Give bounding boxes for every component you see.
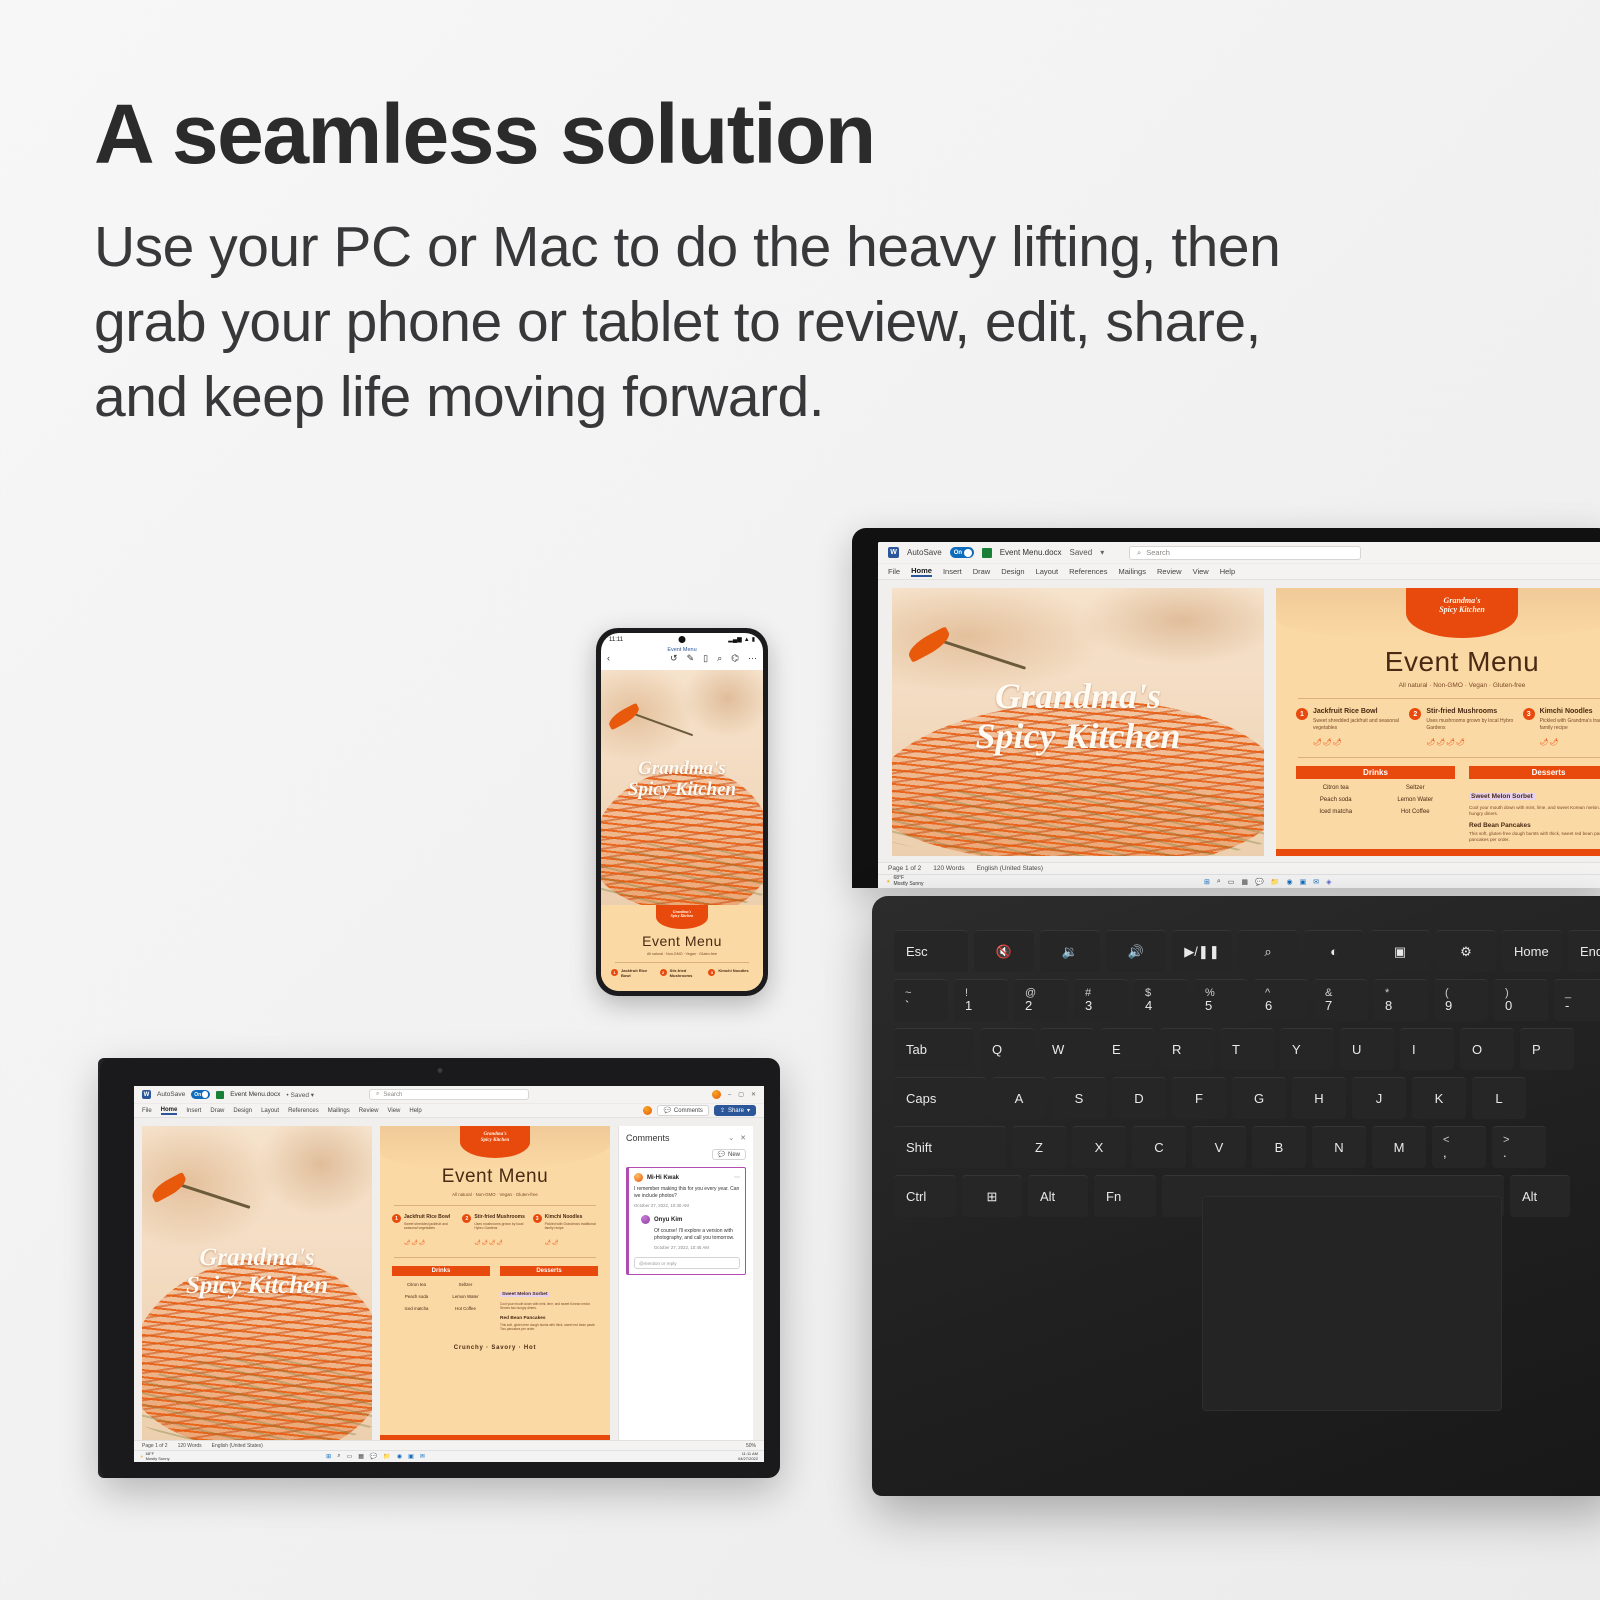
word-ribbon-tabs-tablet: File Home Insert Draw Design Layout Refe… [878,564,1600,580]
desserts-header: Desserts [500,1266,598,1276]
teams-icon[interactable]: ◈ [1326,878,1331,886]
phone-toolbar-icons: ↺ ✎ ▯ ⌕ ⌬ ⋯ [670,653,757,664]
word-title-bar: W AutoSave On Event Menu.docx Saved ▾ ⌕ … [878,542,1600,564]
comment-header: Mi-Hi Kwak ⋯ [634,1173,740,1182]
chat-icon[interactable]: 💬 [370,1453,377,1460]
key-e[interactable]: E [1100,1028,1154,1070]
dish-name: Kimchi Noodles [1540,708,1600,716]
menu-dish-item: 1 Jackfruit Rice Bowl [611,969,656,979]
document-save-status: • Saved ▾ [286,1091,314,1099]
new-comment-button[interactable]: 💬 New [712,1149,747,1160]
key-bottom-label: 9 [1445,999,1452,1014]
status-page-number[interactable]: Page 1 of 2 [888,865,921,872]
dessert-name: Red Bean Pancakes [1469,822,1600,829]
menu-drinks-column: Drinks Citron tea Peach soda Iced matcha [1296,766,1455,843]
phone-status-icons: ▂▄▆ ▲ ▮ [728,636,755,643]
key-j[interactable]: J [1352,1077,1406,1119]
key-i[interactable]: I [1400,1028,1454,1070]
status-word-count[interactable]: 120 Words [178,1443,202,1449]
key-bottom-label: 2 [1025,999,1032,1014]
store-icon[interactable]: ▣ [1300,878,1307,886]
key-o[interactable]: O [1460,1028,1514,1070]
search-placeholder: Search [1146,548,1170,557]
avatar[interactable] [712,1090,721,1099]
laptop-webcam [438,1068,443,1073]
menu-columns: Drinks Citron tea Peach soda Iced matcha [380,1266,610,1331]
tab-review[interactable]: Review [359,1108,379,1114]
dessert-name[interactable]: Sweet Melon Sorbet [500,1292,550,1297]
comment-author: Onyu Kim [654,1217,682,1223]
drink-item: Seltzer [1376,785,1456,791]
key-g[interactable]: G [1232,1077,1286,1119]
menu-divider [394,1205,596,1206]
menu-desserts-column: Desserts Sweet Melon Sorbet Cool your mo… [1469,766,1600,843]
start-icon[interactable]: ⊞ [326,1453,331,1460]
search-placeholder: Search [383,1092,402,1098]
cover-brand-line-2: Spicy Kitchen [142,1272,372,1300]
menu-dish-list: 1 Jackfruit Rice Bowl 2 Stir-fried Mushr… [601,969,763,979]
menu-brand-line-2: Spicy Kitchen [1406,606,1518,615]
edge-icon[interactable]: ◉ [397,1453,402,1460]
key-6[interactable]: ^ 6 [1254,979,1308,1021]
dish-description: Sweet shredded jackfruit and seasonal ve… [404,1222,457,1231]
share-button[interactable]: ⇪ Share ▾ [714,1105,756,1116]
tab-mailings[interactable]: Mailings [328,1108,350,1114]
key-bottom-label: 0 [1505,999,1512,1014]
key-1[interactable]: ! 1 [954,979,1008,1021]
phone-page-menu[interactable]: Grandma's Spicy Kitchen Event Menu All n… [601,905,763,991]
menu-drinks-column: Drinks Citron tea Peach soda Iced matcha [392,1266,490,1331]
desserts-header: Desserts [1469,766,1600,779]
ribbon-right-actions: 💬 Comments ⇪ Share ▾ [643,1105,756,1116]
key-mute-icon[interactable]: 🔇 [974,930,1034,972]
new-comment-label: New [728,1152,740,1158]
key-q[interactable]: Q [980,1028,1034,1070]
menu-tags: All natural · Non-GMO · Vegan · Gluten-f… [601,952,763,956]
search-input[interactable]: ⌕ Search [1129,546,1361,560]
tab-file[interactable]: File [888,567,900,576]
windows-taskbar-laptop: ☀ 68°F Mostly Sunny ⊞ ⌕ ▭ ▦ 💬 📁 ◉ [134,1450,764,1462]
key-w[interactable]: W [1040,1028,1094,1070]
tab-view[interactable]: View [1193,567,1209,576]
save-status-icon[interactable] [216,1091,224,1099]
dish-number-badge: 3 [708,969,715,976]
cover-brand-line-1: Grandma's [601,758,763,779]
key-bottom-label: 5 [1205,999,1212,1014]
mobile-view-icon[interactable]: ▯ [703,653,708,664]
swirl-art-green [892,781,1264,856]
collaborator-avatar[interactable] [643,1106,652,1115]
tab-layout[interactable]: Layout [1036,567,1059,576]
document-page-menu[interactable]: Grandma's Spicy Kitchen Event Menu All n… [380,1126,610,1440]
search-icon[interactable]: ⌕ [1217,878,1221,886]
cover-brand-line-1: Grandma's [142,1244,372,1272]
dish-name: Kimchi Noodles [718,969,748,979]
swirl-art-green [142,1353,372,1440]
mail-icon[interactable]: ✉ [420,1453,425,1460]
menu-brand-badge: Grandma's Spicy Kitchen [460,1126,530,1158]
word-ribbon-tabs-laptop: File Home Insert Draw Design Layout Refe… [134,1104,764,1118]
dessert-description: Cool your mouth down with mint, lime, an… [500,1302,598,1310]
tab-layout[interactable]: Layout [261,1108,279,1114]
search-input[interactable]: ⌕ Search [369,1089,529,1100]
dish-name: Jackfruit Rice Bowl [404,1214,457,1220]
dish-number-badge: 2 [462,1214,471,1223]
autosave-toggle[interactable]: On [191,1090,210,1099]
cover-brand-line-2: Spicy Kitchen [601,779,763,800]
menu-brand-line-2: Spicy Kitchen [656,914,708,918]
keyboard-row-shift: Shift Z X C V B N M < , > . [894,1126,1600,1168]
tab-draw[interactable]: Draw [210,1108,224,1114]
battery-icon: ▮ [752,636,755,643]
key-k[interactable]: K [1412,1077,1466,1119]
document-name-caret-icon[interactable]: ▾ [1100,548,1104,557]
menu-dish-item: 3 Kimchi Noodles Pickled with Grandma's … [1523,708,1600,749]
smartphone-device: 11:11 ▂▄▆ ▲ ▮ Event Menu ‹ ↺ ✎ ▯ ⌕ ⌬ ⋯ [596,628,768,996]
autosave-label: AutoSave [157,1091,185,1098]
page-subtitle: Use your PC or Mac to do the heavy lifti… [94,210,1354,436]
key-period[interactable]: > . [1492,1126,1546,1168]
menu-dish-item: 3 Kimchi Noodles [708,969,753,979]
tab-review[interactable]: Review [1157,567,1182,576]
key-3[interactable]: # 3 [1074,979,1128,1021]
key-8[interactable]: * 8 [1374,979,1428,1021]
more-options-icon[interactable]: ⋯ [748,653,757,664]
autosave-toggle-state: On [954,550,962,556]
page-title: A seamless solution [94,92,1354,176]
reply-header: Onyu Kim [641,1215,740,1224]
key-m[interactable]: M [1372,1126,1426,1168]
key-play-pause-icon[interactable]: ▶/❚❚ [1172,930,1232,972]
phone-camera-notch [679,636,686,643]
key-bottom-label: ` [905,999,909,1014]
phone-display: 11:11 ▂▄▆ ▲ ▮ Event Menu ‹ ↺ ✎ ▯ ⌕ ⌬ ⋯ [601,633,763,991]
key-h[interactable]: H [1292,1077,1346,1119]
menu-divider [1298,757,1600,758]
document-canvas-laptop: Grandma's Spicy Kitchen Grandma's Spicy … [134,1118,764,1440]
undo-icon[interactable]: ↺ [670,653,678,664]
drink-item: Peach soda [1296,797,1376,803]
key-c[interactable]: C [1132,1126,1186,1168]
comment-text: Of course! I'll explore a version with p… [641,1228,740,1241]
task-view-icon[interactable]: ▭ [1228,878,1235,886]
dish-description: Pickled with Grandma's traditional famil… [1540,718,1600,731]
cover-brand-title: Grandma's Spicy Kitchen [892,676,1264,757]
document-save-status: Saved [1070,548,1093,557]
start-icon[interactable]: ⊞ [1204,878,1210,886]
autosave-label: AutoSave [907,548,942,557]
key-comma[interactable]: < , [1432,1126,1486,1168]
dish-heat-rating: 🌶🌶 [545,1240,560,1246]
widgets-icon[interactable]: ▦ [1241,878,1248,886]
status-language[interactable]: English (United States) [212,1443,263,1449]
key-b[interactable]: B [1252,1126,1306,1168]
dish-description: Sweet shredded jackfruit and seasonal ve… [1313,718,1401,731]
menu-divider [615,962,749,963]
key-tab[interactable]: Tab [894,1028,974,1070]
reply-placeholder: @mention or reply [639,1261,677,1266]
tab-home[interactable]: Home [911,566,932,577]
tab-draw[interactable]: Draw [973,567,991,576]
dish-heat-rating: 🌶🌶🌶 [404,1240,426,1246]
key-home[interactable]: Home [1502,930,1562,972]
key-4[interactable]: $ 4 [1134,979,1188,1021]
search-icon[interactable]: ⌕ [337,1453,340,1460]
phone-document-view[interactable]: Grandma's Spicy Kitchen Grandma's Spicy … [601,670,763,991]
draw-pen-icon[interactable]: ✎ [687,653,695,664]
comments-pane-header: Comments ⌄ ✕ [626,1133,746,1143]
laptop-display: W AutoSave On Event Menu.docx • Saved ▾ … [134,1086,764,1462]
window-controls: – ▢ ✕ [712,1090,756,1099]
key-9[interactable]: ( 9 [1434,979,1488,1021]
dish-heat-rating: 🌶🌶🌶🌶 [474,1240,503,1246]
drink-item: Peach soda [392,1294,441,1299]
weather-description: Mostly Sunny [146,1457,170,1461]
key-s[interactable]: S [1052,1077,1106,1119]
taskbar-icon-group: ⊞ ⌕ ▭ ▦ 💬 📁 ◉ ▣ ✉ [326,1453,425,1460]
menu-dish-item: 2 Stir-fried Mushrooms [660,969,705,979]
word-application-tablet: W AutoSave On Event Menu.docx Saved ▾ ⌕ … [878,542,1600,888]
status-language[interactable]: English (United States) [977,865,1043,872]
comment-reply: Onyu Kim Of course! I'll explore a versi… [634,1215,740,1250]
tab-help[interactable]: Help [409,1108,421,1114]
reply-input[interactable]: @mention or reply [634,1257,740,1269]
dish-name: Jackfruit Rice Bowl [621,969,656,979]
dish-heat-rating: 🌶🌶🌶🌶 [1426,739,1466,746]
taskbar-icon-group: ⊞ ⌕ ▭ ▦ 💬 📁 ◉ ▣ ✉ ◈ [1204,878,1331,886]
comments-button[interactable]: 💬 Comments [657,1105,709,1116]
tab-insert[interactable]: Insert [943,567,962,576]
taskbar-clock[interactable]: 11:11 AM 04/27/2022 [738,1452,764,1461]
close-button[interactable]: ✕ [751,1091,756,1098]
document-page-cover[interactable]: Grandma's Spicy Kitchen [892,588,1264,856]
menu-dish-item: 2 Stir-fried Mushrooms Uses mushrooms gr… [1409,708,1514,749]
dish-name: Stir-fried Mushrooms [1426,708,1514,716]
drinks-list: Citron tea Peach soda Iced matcha Seltze… [1296,785,1455,815]
maximize-button[interactable]: ▢ [738,1091,744,1098]
drink-item: Lemon Water [441,1294,490,1299]
cover-brand-line-1: Grandma's [892,676,1264,716]
key-bottom-label: . [1503,1146,1507,1161]
keyboard-row-home: Caps A S D F G H J K L [894,1077,1600,1119]
key-bottom-label: 6 [1265,999,1272,1014]
chevron-down-icon[interactable]: ⌄ [728,1134,734,1142]
dessert-description: This soft, gluten-free dough bursts with… [500,1323,598,1331]
surface-display-bezel: W AutoSave On Event Menu.docx Saved ▾ ⌕ … [852,528,1600,888]
key-0[interactable]: ) 0 [1494,979,1548,1021]
laptop-bezel: W AutoSave On Event Menu.docx • Saved ▾ … [100,1058,780,1478]
dessert-name[interactable]: Sweet Melon Sorbet [1469,793,1535,800]
key-2[interactable]: @ 2 [1014,979,1068,1021]
key-ctrl[interactable]: Ctrl [894,1175,956,1217]
edge-icon[interactable]: ◉ [1286,878,1292,886]
key-r[interactable]: R [1160,1028,1214,1070]
drink-item: Citron tea [1296,785,1376,791]
drinks-list: Citron tea Peach soda Iced matcha Seltze… [392,1282,490,1311]
key-shift[interactable]: Shift [894,1126,1006,1168]
sun-icon: ☀ [886,879,890,885]
tab-mailings[interactable]: Mailings [1118,567,1146,576]
tab-file[interactable]: File [142,1108,152,1114]
key-bottom-label: - [1565,999,1569,1014]
drink-item: Lemon Water [1376,797,1456,803]
menu-title: Event Menu [1276,646,1600,678]
key-bottom-label: 4 [1145,999,1152,1014]
dessert-description: This soft, gluten-free dough bursts with… [1469,831,1600,842]
key-alt-left[interactable]: Alt [1028,1175,1088,1217]
key-brightness-icon[interactable]: ◐ [1304,930,1364,972]
document-page-cover[interactable]: Grandma's Spicy Kitchen [142,1126,372,1440]
file-explorer-icon[interactable]: 📁 [1271,878,1280,886]
dish-name: Stir-fried Mushrooms [670,969,705,979]
phone-page-cover[interactable]: Grandma's Spicy Kitchen [601,670,763,905]
taskbar-date: 04/27/2022 [738,1457,758,1462]
dish-name: Stir-fried Mushrooms [474,1214,527,1220]
key-bottom-label: 3 [1085,999,1092,1014]
key-p[interactable]: P [1520,1028,1574,1070]
close-icon[interactable]: ✕ [740,1134,746,1142]
desserts-list: Sweet Melon Sorbet Cool your mouth down … [1469,785,1600,843]
store-icon[interactable]: ▣ [408,1453,414,1460]
status-zoom[interactable]: 50% [746,1443,756,1449]
chat-icon[interactable]: 💬 [1255,878,1264,886]
drink-item: Hot Coffee [441,1306,490,1311]
dish-description: Pickled with Grandma's traditional famil… [545,1222,598,1231]
tab-home[interactable]: Home [161,1107,178,1115]
phone-clock: 11:11 [609,637,623,643]
autosave-toggle-knob [202,1091,209,1098]
key-f[interactable]: F [1172,1077,1226,1119]
drinks-header: Drinks [1296,766,1455,779]
drink-item: Iced matcha [392,1306,441,1311]
hero-text-block: A seamless solution Use your PC or Mac t… [94,92,1354,436]
word-application-laptop: W AutoSave On Event Menu.docx • Saved ▾ … [134,1086,764,1462]
tab-references[interactable]: References [288,1108,319,1114]
menu-divider [1298,698,1600,699]
minimize-button[interactable]: – [728,1092,731,1098]
search-icon: ⌕ [1137,548,1141,558]
key-d[interactable]: D [1112,1077,1166,1119]
new-comment-icon: 💬 [718,1151,725,1158]
taskbar-weather-widget[interactable]: ☀ 68°F Mostly Sunny [134,1452,170,1461]
menu-dish-item: 2 Stir-fried Mushrooms Uses mushrooms gr… [462,1214,527,1249]
key-project-icon[interactable]: ▣ [1370,930,1430,972]
key-t[interactable]: T [1220,1028,1274,1070]
dish-heat-rating: 🌶🌶🌶 [1313,739,1343,746]
more-options-icon[interactable]: ⋯ [734,1174,740,1181]
tab-design[interactable]: Design [1001,567,1024,576]
trackpad[interactable] [1202,1196,1502,1411]
widgets-icon[interactable]: ▦ [358,1453,364,1460]
comment-author: Mi-Hi Kwak [647,1175,679,1181]
key-7[interactable]: & 7 [1314,979,1368,1021]
key-alt-right[interactable]: Alt [1510,1175,1570,1217]
key-tilde[interactable]: ~ ` [894,979,948,1021]
word-logo-icon: W [142,1090,151,1099]
document-pages: Grandma's Spicy Kitchen Grandma's Spicy … [892,588,1600,862]
cover-brand-title: Grandma's Spicy Kitchen [142,1244,372,1300]
key-5[interactable]: % 5 [1194,979,1248,1021]
key-y[interactable]: Y [1280,1028,1334,1070]
save-status-icon[interactable] [982,548,992,558]
menu-dish-item: 1 Jackfruit Rice Bowl Sweet shredded jac… [392,1214,457,1249]
tab-design[interactable]: Design [233,1108,252,1114]
menu-tags: All natural · Non-GMO · Vegan · Gluten-f… [380,1192,610,1197]
key-n[interactable]: N [1312,1126,1366,1168]
share-caret-icon: ▾ [747,1107,750,1114]
word-status-bar-laptop: Page 1 of 2 120 Words English (United St… [134,1440,764,1450]
sun-icon: ☀ [140,1454,144,1459]
dish-name: Kimchi Noodles [545,1214,598,1220]
key-l[interactable]: L [1472,1077,1526,1119]
back-chevron-icon[interactable]: ‹ [607,653,610,663]
document-name[interactable]: Event Menu.docx [1000,548,1062,557]
key-end[interactable]: End [1568,930,1600,972]
document-name[interactable]: Event Menu.docx [230,1091,280,1098]
key-z[interactable]: Z [1012,1126,1066,1168]
key-u[interactable]: U [1340,1028,1394,1070]
tab-references[interactable]: References [1069,567,1107,576]
key-minus[interactable]: _ - [1554,979,1600,1021]
mail-icon[interactable]: ✉ [1313,878,1319,886]
drinks-header: Drinks [392,1266,490,1276]
key-search-icon[interactable]: ⌕ [1238,930,1298,972]
key-esc[interactable]: Esc [894,930,968,972]
document-page-menu[interactable]: Grandma's Spicy Kitchen Event Menu All n… [1276,588,1600,856]
share-icon: ⇪ [720,1107,725,1114]
drink-item: Seltzer [441,1282,490,1287]
key-a[interactable]: A [992,1077,1046,1119]
task-view-icon[interactable]: ▭ [347,1453,353,1460]
document-canvas-tablet: Grandma's Spicy Kitchen Grandma's Spicy … [878,580,1600,862]
status-word-count[interactable]: 120 Words [933,865,964,872]
status-page-number[interactable]: Page 1 of 2 [142,1443,168,1449]
avatar [641,1215,650,1224]
taskbar-weather-widget[interactable]: ☀ 68°F Mostly Sunny [878,876,924,887]
weather-description: Mostly Sunny [893,882,923,888]
tab-view[interactable]: View [387,1108,400,1114]
keyboard-row-qwerty: Tab Q W E R T Y U I O P [894,1028,1600,1070]
windows-taskbar-tablet: ☀ 68°F Mostly Sunny ⊞ ⌕ ▭ ▦ 💬 📁 ◉ [878,874,1600,888]
dish-number-badge: 2 [660,969,667,976]
autosave-toggle-knob [964,549,972,557]
key-volume-up-icon[interactable]: 🔊 [1106,930,1166,972]
key-caps[interactable]: Caps [894,1077,986,1119]
comments-button-label: Comments [674,1108,703,1114]
surface-type-cover-keyboard[interactable]: Esc 🔇 🔉 🔊 ▶/❚❚ ⌕ ◐ ▣ ⚙ Home End ~ ` ! 1 [872,896,1600,1496]
file-explorer-icon[interactable]: 📁 [383,1453,390,1460]
key-v[interactable]: V [1192,1126,1246,1168]
menu-brand-line-1: Grandma's [460,1126,530,1138]
key-windows-icon[interactable]: ⊞ [962,1175,1022,1217]
share-button-label: Share [728,1108,744,1114]
tab-insert[interactable]: Insert [186,1108,201,1114]
swirl-art-green [601,839,763,905]
key-settings-icon[interactable]: ⚙ [1436,930,1496,972]
autosave-toggle[interactable]: On [950,547,974,558]
search-icon[interactable]: ⌕ [717,653,722,664]
tab-help[interactable]: Help [1220,567,1235,576]
key-fn[interactable]: Fn [1094,1175,1156,1217]
key-x[interactable]: X [1072,1126,1126,1168]
key-volume-down-icon[interactable]: 🔉 [1040,930,1100,972]
comment-thread[interactable]: Mi-Hi Kwak ⋯ I remember making this for … [626,1167,746,1275]
share-icon[interactable]: ⌬ [731,653,739,664]
surface-pro-device: W AutoSave On Event Menu.docx Saved ▾ ⌕ … [852,528,1600,1548]
dish-number-badge: 2 [1409,708,1421,720]
dish-description: Uses mushrooms grown by local Hybro Gard… [474,1222,527,1231]
menu-title: Event Menu [601,933,763,949]
